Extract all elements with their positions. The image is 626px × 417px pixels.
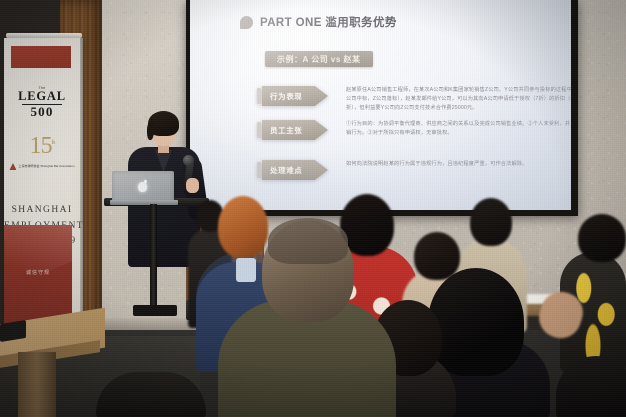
section-body-text: ①行为目的：为协调平衡代理商、供应商之间的关系以及完成公司销售业绩。②个人未受利… — [346, 120, 571, 138]
attendee-collar — [236, 258, 256, 282]
slide-section-1: 行为表现 赵某原任A公司销售工程师，在某次A公司和K集团家轮销售Z公司、Y公司共… — [262, 86, 571, 113]
tag-shape: 员工主张 — [262, 120, 328, 140]
section-tag-label: 员工主张 — [270, 125, 302, 136]
slide-section-2: 员工主张 ①行为目的：为协调平衡代理商、供应商之间的关系以及完成公司销售业绩。②… — [262, 120, 571, 140]
tag-stub — [257, 122, 261, 138]
attendee-head — [218, 196, 268, 258]
slide-title: PART ONE 滥用职务优势 — [260, 14, 397, 30]
tag-shape: 行为表现 — [262, 86, 328, 106]
speaker-hair-side — [147, 122, 154, 140]
association-name: 上海市律师协会 Shanghai Bar Association — [18, 165, 74, 169]
section-tag-label: 行为表现 — [270, 91, 302, 102]
microphone-head — [183, 155, 194, 166]
legal500-number: 500 — [4, 105, 80, 118]
section-tag-label: 处理难点 — [270, 165, 302, 176]
anniversary-logo: 15th 上海市律师协会 Shanghai Bar Association — [4, 134, 80, 170]
triangle-mark-icon — [9, 163, 16, 170]
conference-photo: PART ONE 滥用职务优势 示例：A 公司 vs 赵某 行为表现 赵某原任A… — [0, 0, 626, 417]
legal500-name: LEGAL — [4, 90, 80, 103]
speaker-hand — [186, 178, 199, 193]
section-body-text: 如何向法院说明赵某的行为属于违规行为，且违纪程度严重，可作合法解除。 — [346, 160, 571, 169]
attendee-head — [414, 232, 460, 280]
table-leg — [18, 352, 56, 417]
section-tag-1: 行为表现 — [262, 86, 328, 106]
banner-edge — [80, 38, 83, 343]
association-logo: 上海市律师协会 Shanghai Bar Association — [4, 163, 80, 170]
slide-title-row: PART ONE 滥用职务优势 — [240, 14, 397, 30]
banner-top-rail — [6, 33, 82, 38]
circle-bullet-icon — [240, 16, 253, 29]
attendee-head — [428, 268, 524, 376]
section-body-2: ①行为目的：为协调平衡代理商、供应商之间的关系以及完成公司销售业绩。②个人未受利… — [346, 120, 571, 138]
banner-lower-sheen — [4, 225, 72, 291]
banner-lower-text: 诚信守规 — [4, 269, 72, 276]
podium-stem — [150, 204, 157, 312]
section-tag-2: 员工主张 — [262, 120, 328, 140]
attendee-head — [470, 198, 512, 246]
slide-section-3: 处理难点 如何向法院说明赵某的行为属于违规行为，且违纪程度严重，可作合法解除。 — [262, 160, 571, 180]
section-tag-3: 处理难点 — [262, 160, 328, 180]
anniversary-number: 15th — [4, 134, 80, 158]
tag-stub — [257, 88, 261, 104]
section-body-3: 如何向法院说明赵某的行为属于违规行为，且违纪程度严重，可作合法解除。 — [346, 160, 571, 169]
tag-shape: 处理难点 — [262, 160, 328, 180]
attendee-head — [578, 214, 626, 262]
laptop-base — [110, 200, 178, 205]
podium-base — [133, 305, 177, 316]
event-line-1: SHANGHAI — [4, 203, 80, 219]
banner-accent-block — [11, 46, 71, 68]
section-body-text: 赵某原任A公司销售工程师，在某次A公司和K集团家轮销售Z公司、Y公司共同参与投标… — [346, 86, 571, 113]
attendee-hair — [268, 218, 348, 264]
projection-screen: PART ONE 滥用职务优势 示例：A 公司 vs 赵某 行为表现 赵某原任A… — [190, 0, 571, 210]
legal500-logo: The LEGAL 500 — [4, 86, 80, 118]
anniversary-suffix: th — [52, 140, 55, 146]
example-badge: 示例：A 公司 vs 赵某 — [265, 51, 373, 67]
tag-stub — [257, 162, 261, 178]
section-body-1: 赵某原任A公司销售工程师，在某次A公司和K集团家轮销售Z公司、Y公司共同参与投标… — [346, 86, 571, 113]
anniversary-digits: 15 — [30, 133, 52, 159]
